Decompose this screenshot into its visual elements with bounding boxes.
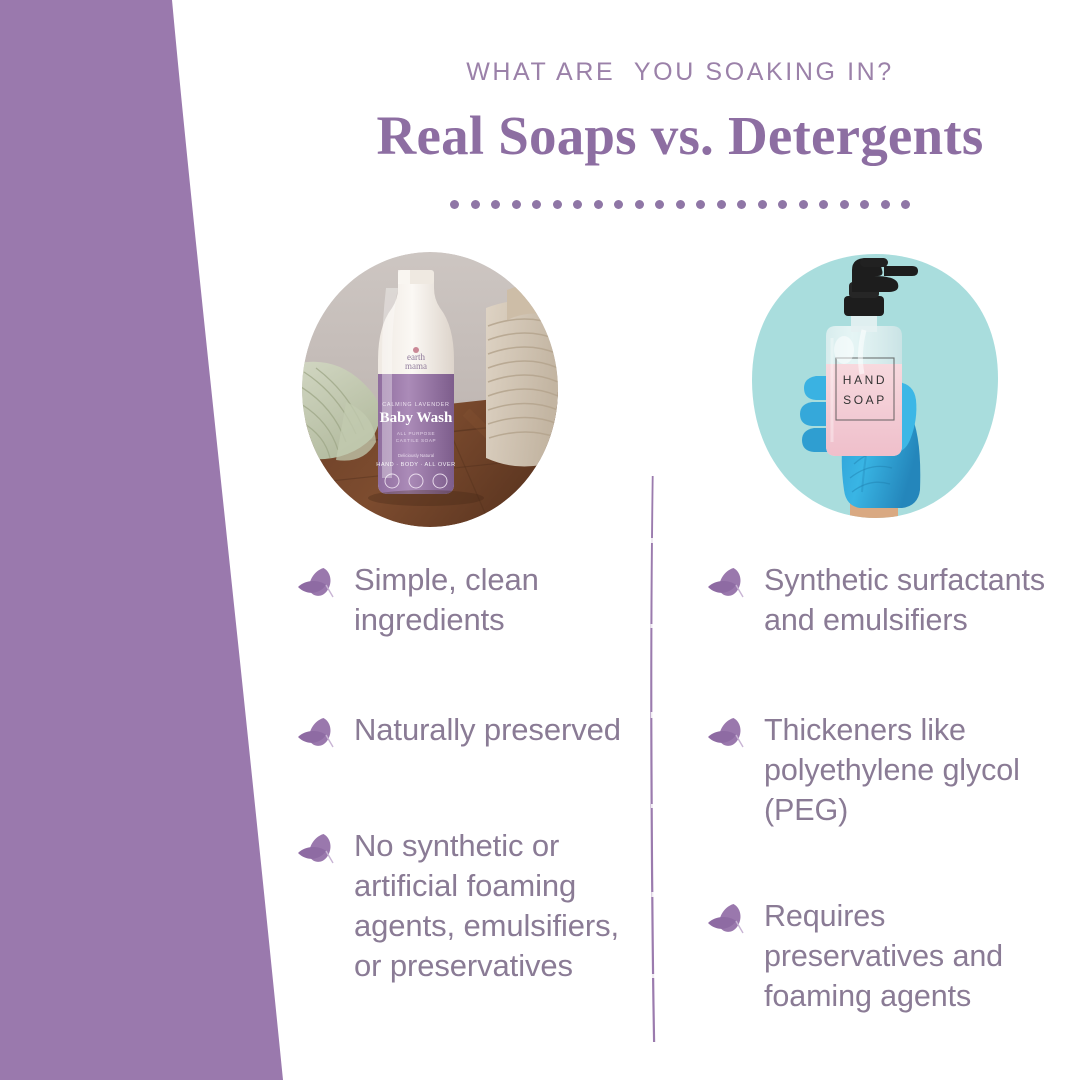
divider-dot <box>737 200 746 209</box>
divider-dot <box>881 200 890 209</box>
column-divider <box>640 474 668 1044</box>
divider-dot <box>553 200 562 209</box>
divider-dot <box>491 200 500 209</box>
detergents-column: Synthetic surfactants and emulsifiers Th… <box>706 560 1066 1016</box>
leaf-icon <box>706 566 748 606</box>
divider-dot <box>799 200 808 209</box>
list-item: Synthetic surfactants and emulsifiers <box>706 560 1066 640</box>
divider-dot <box>594 200 603 209</box>
purple-wedge-decoration <box>0 0 340 1080</box>
divider-dot <box>635 200 644 209</box>
page-title: Real Soaps vs. Detergents <box>300 104 1060 167</box>
dotted-divider <box>330 200 1030 209</box>
divider-dot <box>512 200 521 209</box>
divider-dot <box>758 200 767 209</box>
real-soaps-column: Simple, clean ingredients Naturally pres… <box>296 560 636 986</box>
divider-dot <box>696 200 705 209</box>
divider-dot <box>655 200 664 209</box>
eyebrow-heading: WHAT ARE YOU SOAKING IN? <box>330 58 1030 87</box>
divider-dot <box>717 200 726 209</box>
svg-text:SOAP: SOAP <box>843 393 887 407</box>
list-item: Thickeners like polyethylene glycol (PEG… <box>706 710 1066 830</box>
list-item-text: Simple, clean ingredients <box>354 560 636 640</box>
list-item-text: No synthetic or artificial foaming agent… <box>354 826 636 986</box>
list-item-text: Synthetic surfactants and emulsifiers <box>764 560 1066 640</box>
svg-text:HAND: HAND <box>843 373 887 387</box>
divider-dot <box>860 200 869 209</box>
divider-dot <box>532 200 541 209</box>
infographic-canvas: WHAT ARE YOU SOAKING IN? Real Soaps vs. … <box>0 0 1080 1080</box>
list-item: Simple, clean ingredients <box>296 560 636 640</box>
divider-dot <box>819 200 828 209</box>
list-item: Requires preservatives and foaming agent… <box>706 896 1066 1016</box>
leaf-icon <box>296 716 338 756</box>
divider-dot <box>676 200 685 209</box>
divider-dot <box>778 200 787 209</box>
list-item: Naturally preserved <box>296 710 636 756</box>
list-item: No synthetic or artificial foaming agent… <box>296 826 636 986</box>
svg-text:CALMING LAVENDER: CALMING LAVENDER <box>382 402 450 408</box>
divider-dot <box>573 200 582 209</box>
svg-text:ALL PURPOSE: ALL PURPOSE <box>397 431 435 436</box>
divider-dot <box>840 200 849 209</box>
detergent-photo: HAND SOAP <box>748 252 1000 527</box>
leaf-icon <box>296 832 338 872</box>
divider-dot <box>901 200 910 209</box>
divider-dot <box>614 200 623 209</box>
divider-dot <box>471 200 480 209</box>
svg-text:Deliciously Natural: Deliciously Natural <box>398 453 434 458</box>
svg-text:CASTILE SOAP: CASTILE SOAP <box>396 438 436 443</box>
leaf-icon <box>706 716 748 756</box>
divider-dot <box>450 200 459 209</box>
svg-text:mama: mama <box>405 361 427 371</box>
real-soap-photo: earth mama CALMING LAVENDER Baby Wash AL… <box>302 252 558 527</box>
list-item-text: Thickeners like polyethylene glycol (PEG… <box>764 710 1066 830</box>
list-item-text: Naturally preserved <box>354 710 621 750</box>
list-item-text: Requires preservatives and foaming agent… <box>764 896 1066 1016</box>
leaf-icon <box>706 902 748 942</box>
leaf-icon <box>296 566 338 606</box>
